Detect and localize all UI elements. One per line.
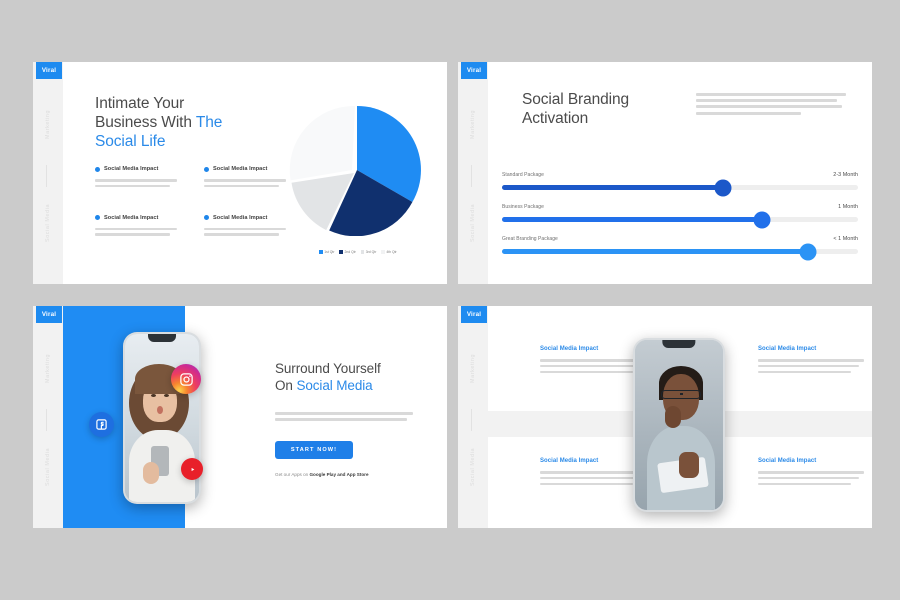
slider-label: Business Package [502,204,544,210]
rail-label-marketing: Marketing [458,98,488,150]
quad-title: Social Media Impact [758,458,864,464]
slider-label: Standard Package [502,172,544,178]
legend-item-1: 1st Qtr [319,250,334,254]
slide-3[interactable]: Viral Marketing Social Media [33,306,447,528]
title-accent: Social Media [296,378,372,393]
feature-body [95,228,177,236]
portrait-photo-man [635,340,723,510]
rail-divider [471,165,472,187]
slider-row[interactable]: Standard Package 2-3 Month [496,172,858,204]
phone-notch [662,340,695,348]
phone-screen [635,340,723,510]
feature-body [204,179,286,187]
brand-badge: Viral [461,62,487,79]
rail-label-social-media: Social Media [33,438,63,496]
slide-1-title: Intimate Your Business With The Social L… [95,94,255,151]
pie-chart: 1st Qtr 2nd Qtr 3rd Qtr 4th Qtr [281,104,433,254]
package-sliders: Standard Package 2-3 Month Business Pack… [496,172,858,268]
pie-chart-legend: 1st Qtr 2nd Qtr 3rd Qtr 4th Qtr [295,250,421,254]
rail-label-social-media: Social Media [458,194,488,252]
feature-body [95,179,177,187]
slide-3-title: Surround Yourself On Social Media [275,360,427,394]
note-prefix: Get our Apps on [275,472,309,477]
bullet-dot-icon [204,167,209,172]
rail-divider [46,165,47,187]
feature-title: Social Media Impact [104,215,158,221]
slide-3-content: Surround Yourself On Social Media START … [275,360,427,477]
feature-item: Social Media Impact [95,215,184,240]
quad-cell: Social Media Impact [540,458,646,488]
phone-mockup [633,338,725,512]
rail-divider [46,409,47,431]
app-store-note: Get our Apps on Google Play and App Stor… [275,472,427,477]
title-line-1: Surround Yourself [275,361,381,376]
title-line-2: Business With [95,114,196,131]
feature-item: Social Media Impact [204,166,293,191]
bullet-dot-icon [204,215,209,220]
legend-item-3: 3rd Qtr [361,250,377,254]
feature-title: Social Media Impact [213,215,267,221]
title-accent-2: Social Life [95,133,165,150]
start-now-button[interactable]: START NOW! [275,441,353,459]
slide-2[interactable]: Viral Marketing Social Media Social Bran… [458,62,872,284]
slide-2-paragraph [696,93,846,118]
brand-badge: Viral [36,306,62,323]
legend-item-2: 2nd Qtr [339,250,355,254]
pie-slice-4 [290,106,355,180]
brand-badge: Viral [461,306,487,323]
slide-3-rail: Viral Marketing Social Media [33,306,63,528]
pie-chart-svg [281,104,433,236]
slider-fill [502,249,808,254]
quad-body [758,359,864,373]
title-line-2: Activation [522,110,588,127]
rail-label-marketing: Marketing [33,342,63,394]
slider-row[interactable]: Great Branding Package < 1 Month [496,236,858,268]
quad-cell: Social Media Impact [540,346,646,376]
slide-1-canvas: Intimate Your Business With The Social L… [63,62,447,284]
slide-1-rail: Viral Marketing Social Media [33,62,63,284]
facebook-icon[interactable] [89,412,114,437]
quad-body [540,359,646,373]
slider-value: 2-3 Month [833,172,858,178]
slider-knob[interactable] [800,243,817,260]
title-accent-1: The [196,114,222,131]
slider-label: Great Branding Package [502,236,558,242]
slide-2-title: Social Branding Activation [522,90,682,128]
slider-track[interactable] [502,249,858,254]
slider-fill [502,217,762,222]
title-line-1: Intimate Your [95,95,184,112]
rail-label-social-media: Social Media [33,194,63,252]
bullet-dot-icon [95,215,100,220]
slide-deck-preview: Viral Marketing Social Media Intimate Yo… [0,0,900,600]
quad-title: Social Media Impact [758,346,864,352]
rail-label-marketing: Marketing [33,98,63,150]
title-line-1: Social Branding [522,91,629,108]
feature-title: Social Media Impact [104,166,158,172]
slider-knob[interactable] [753,211,770,228]
youtube-icon[interactable] [181,458,203,480]
quad-title: Social Media Impact [540,458,646,464]
slider-row[interactable]: Business Package 1 Month [496,204,858,236]
rail-label-social-media: Social Media [458,438,488,496]
quad-body [540,471,646,485]
instagram-icon[interactable] [171,364,201,394]
slide-3-paragraph [275,412,413,421]
feature-item: Social Media Impact [95,166,184,191]
legend-item-4: 4th Qtr [381,250,396,254]
quad-title: Social Media Impact [540,346,646,352]
bullet-dot-icon [95,167,100,172]
slider-fill [502,185,723,190]
slide-4[interactable]: Viral Marketing Social Media Social Medi… [458,306,872,528]
slider-track[interactable] [502,185,858,190]
note-strong[interactable]: Google Play and App Store [309,472,368,477]
feature-title: Social Media Impact [213,166,267,172]
slider-track[interactable] [502,217,858,222]
quad-cell: Social Media Impact [758,458,864,488]
slide-4-canvas: Social Media Impact Social Media Impact … [488,306,872,528]
slider-knob[interactable] [714,179,731,196]
slide-1[interactable]: Viral Marketing Social Media Intimate Yo… [33,62,447,284]
title-line-2: On [275,378,296,393]
quad-body [758,471,864,485]
slide-4-rail: Viral Marketing Social Media [458,306,488,528]
slide-2-rail: Viral Marketing Social Media [458,62,488,284]
rail-label-marketing: Marketing [458,342,488,394]
rail-divider [471,409,472,431]
feature-body [204,228,286,236]
slider-value: 1 Month [838,204,858,210]
brand-badge: Viral [36,62,62,79]
quad-cell: Social Media Impact [758,346,864,376]
feature-item: Social Media Impact [204,215,293,240]
phone-notch [148,334,176,342]
slide-2-canvas: Social Branding Activation Standard Pack… [488,62,872,284]
slide-3-canvas: Surround Yourself On Social Media START … [63,306,447,528]
feature-grid: Social Media Impact Social Media Impact … [95,166,293,239]
slider-value: < 1 Month [833,236,858,242]
